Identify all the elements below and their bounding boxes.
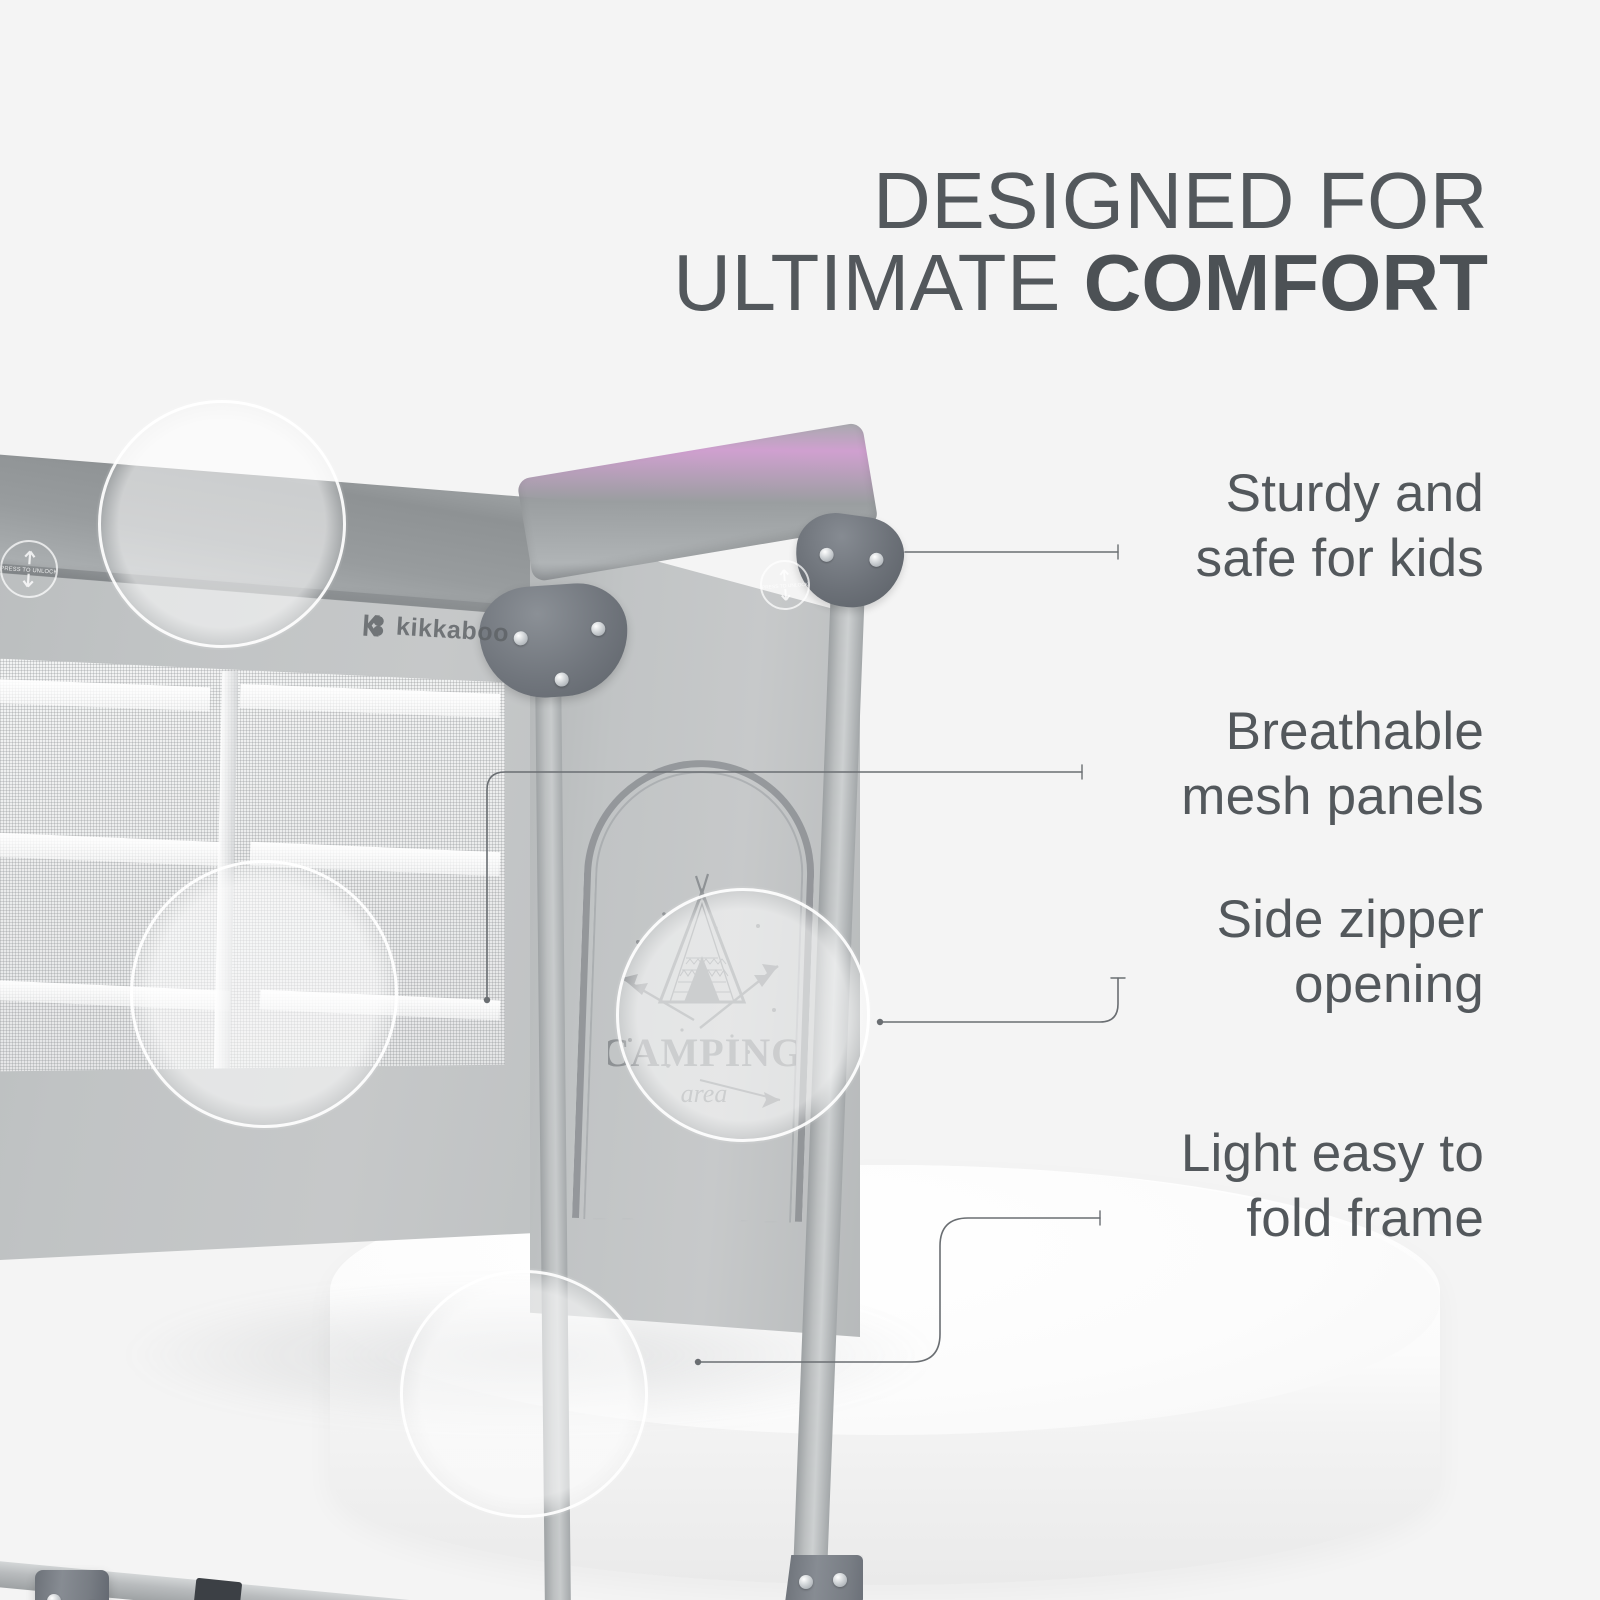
press-to-unlock-badge: PRESS TO UNLOCK [758,558,811,611]
callout-label-sturdy: Sturdy and safe for kids [964,462,1484,591]
headline-bold-part: COMFORT [1084,238,1488,327]
kikkaboo-k-icon [359,611,388,640]
folding-mechanism-left [35,1570,109,1600]
highlight-circle-top-rail [98,400,346,648]
headline-line-1: DESIGNED FOR [488,160,1488,242]
press-to-unlock-badge: PRESS TO UNLOCK [0,538,60,600]
callout-label-fold: Light easy to fold frame [944,1122,1484,1251]
leg-right [785,1555,863,1600]
callout-label-zipper: Side zipper opening [964,888,1484,1017]
highlight-circle-mesh-panel [130,860,398,1128]
headline-line-2: ULTIMATE COMFORT [488,242,1488,324]
product-feature-graphic: CAMPING area kikkaboo [0,0,1600,1600]
headline-light-part: ULTIMATE [673,238,1083,327]
frame-clip [194,1578,242,1600]
callout-label-mesh: Breathable mesh panels [944,700,1484,829]
page-title: DESIGNED FOR ULTIMATE COMFORT [488,160,1488,325]
highlight-circle-zipper-graphic [616,888,870,1142]
highlight-circle-leg-frame [400,1270,648,1518]
